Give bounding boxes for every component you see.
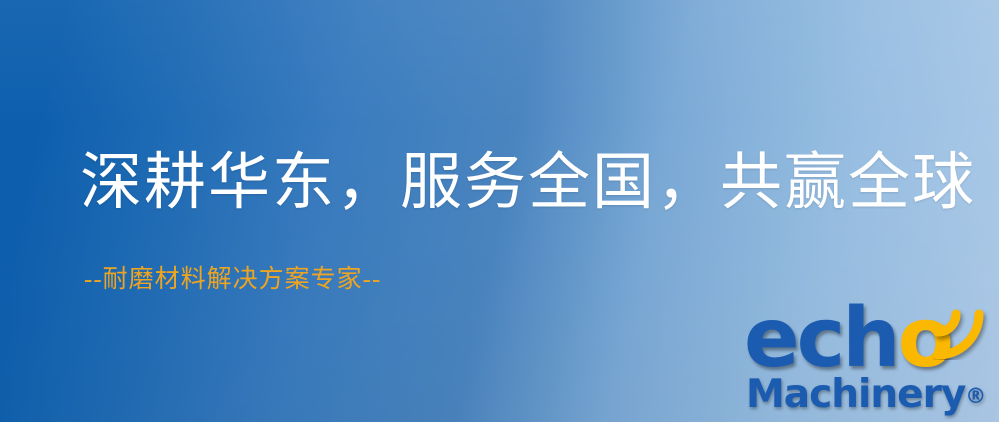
logo-tagline-text: Machinery (746, 372, 965, 417)
logo-tagline: Machinery® (746, 374, 986, 417)
registered-trademark-icon: ® (965, 384, 986, 408)
logo-wordmark: echo (742, 296, 992, 382)
banner-headline: 深耕华东，服务全国，共赢全球 (80, 152, 976, 214)
signal-waves-icon (918, 294, 992, 360)
promo-banner: 深耕华东，服务全国，共赢全球 --耐磨材料解决方案专家-- echo Machi… (0, 0, 999, 422)
banner-subtitle: --耐磨材料解决方案专家-- (84, 266, 381, 294)
company-logo: echo Machinery® (742, 296, 992, 422)
